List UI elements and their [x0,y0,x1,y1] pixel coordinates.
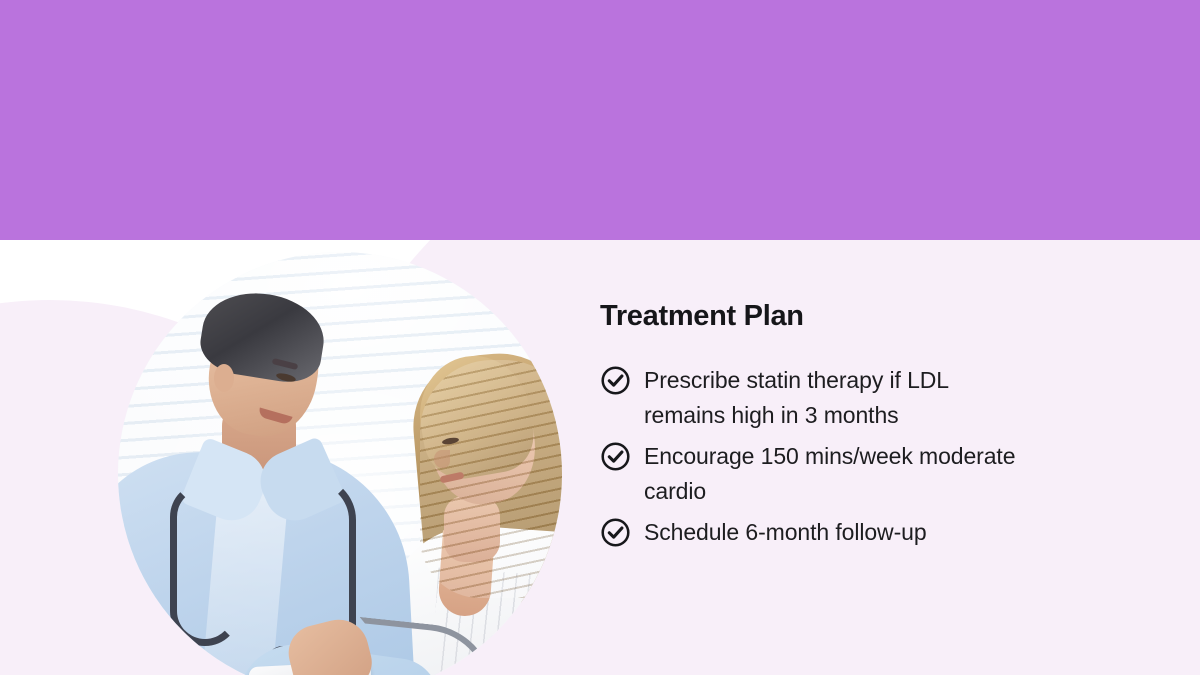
check-circle-icon [600,517,631,548]
header-banner [0,0,1200,240]
doctor-ear [214,364,234,392]
list-item: Encourage 150 mins/week moderate cardio [600,439,1020,509]
patient-nose [434,450,450,468]
treatment-plan-panel: Treatment Plan Prescribe statin therapy … [600,300,1020,556]
treatment-plan-list: Prescribe statin therapy if LDL remains … [600,363,1020,550]
list-item: Prescribe statin therapy if LDL remains … [600,363,1020,433]
stethoscope-tube-left [170,482,240,646]
check-circle-icon [600,441,631,472]
list-item-label: Prescribe statin therapy if LDL remains … [644,363,1020,433]
section-title: Treatment Plan [600,300,1020,333]
list-item: Schedule 6-month follow-up [600,515,1020,550]
list-item-label: Schedule 6-month follow-up [644,515,927,550]
list-item-label: Encourage 150 mins/week moderate cardio [644,439,1020,509]
slide-canvas: Consultation & Results Review (1:00–2:00… [0,0,1200,675]
photo-background [118,252,562,675]
check-circle-icon [600,365,631,396]
consultation-photo [118,252,562,675]
